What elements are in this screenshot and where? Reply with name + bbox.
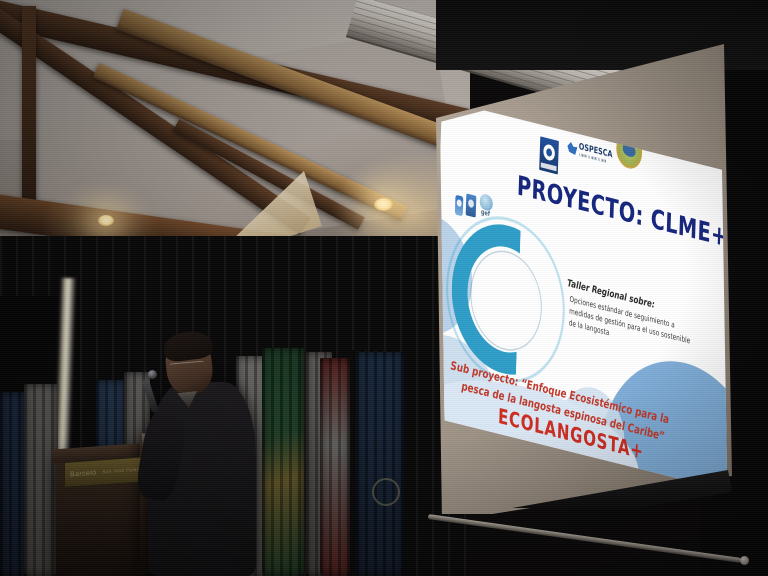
screen-pull-rod (428, 514, 742, 563)
flag (262, 348, 304, 576)
logo-ospesca: OSPESCA (567, 133, 608, 169)
screen-rod-knob (740, 556, 749, 565)
slide-title: PROYECTO: CLME+ (517, 170, 728, 253)
flag-emblem (372, 478, 400, 506)
flag (356, 352, 404, 576)
microphone-head (148, 370, 157, 379)
ceiling-spotlight (98, 215, 114, 226)
logo-clme-mark (539, 136, 559, 174)
slide-content: OSPESCA (432, 100, 744, 494)
ceiling-spotlight (374, 198, 393, 211)
logo-circle-emblem (616, 130, 643, 172)
date-bullet: ▶ (539, 484, 543, 493)
logo-undp (454, 195, 464, 217)
venue-name: Barceló (70, 469, 97, 478)
logo-unops (466, 193, 477, 217)
slide-surface: OSPESCA (432, 44, 744, 514)
photo-scene: Barceló San José Palacio (0, 0, 768, 576)
flag (320, 358, 350, 576)
ceiling-beam-vertical (22, 6, 36, 216)
projection-screen: OSPESCA (432, 44, 744, 514)
flag (24, 384, 58, 576)
flag (0, 392, 26, 576)
